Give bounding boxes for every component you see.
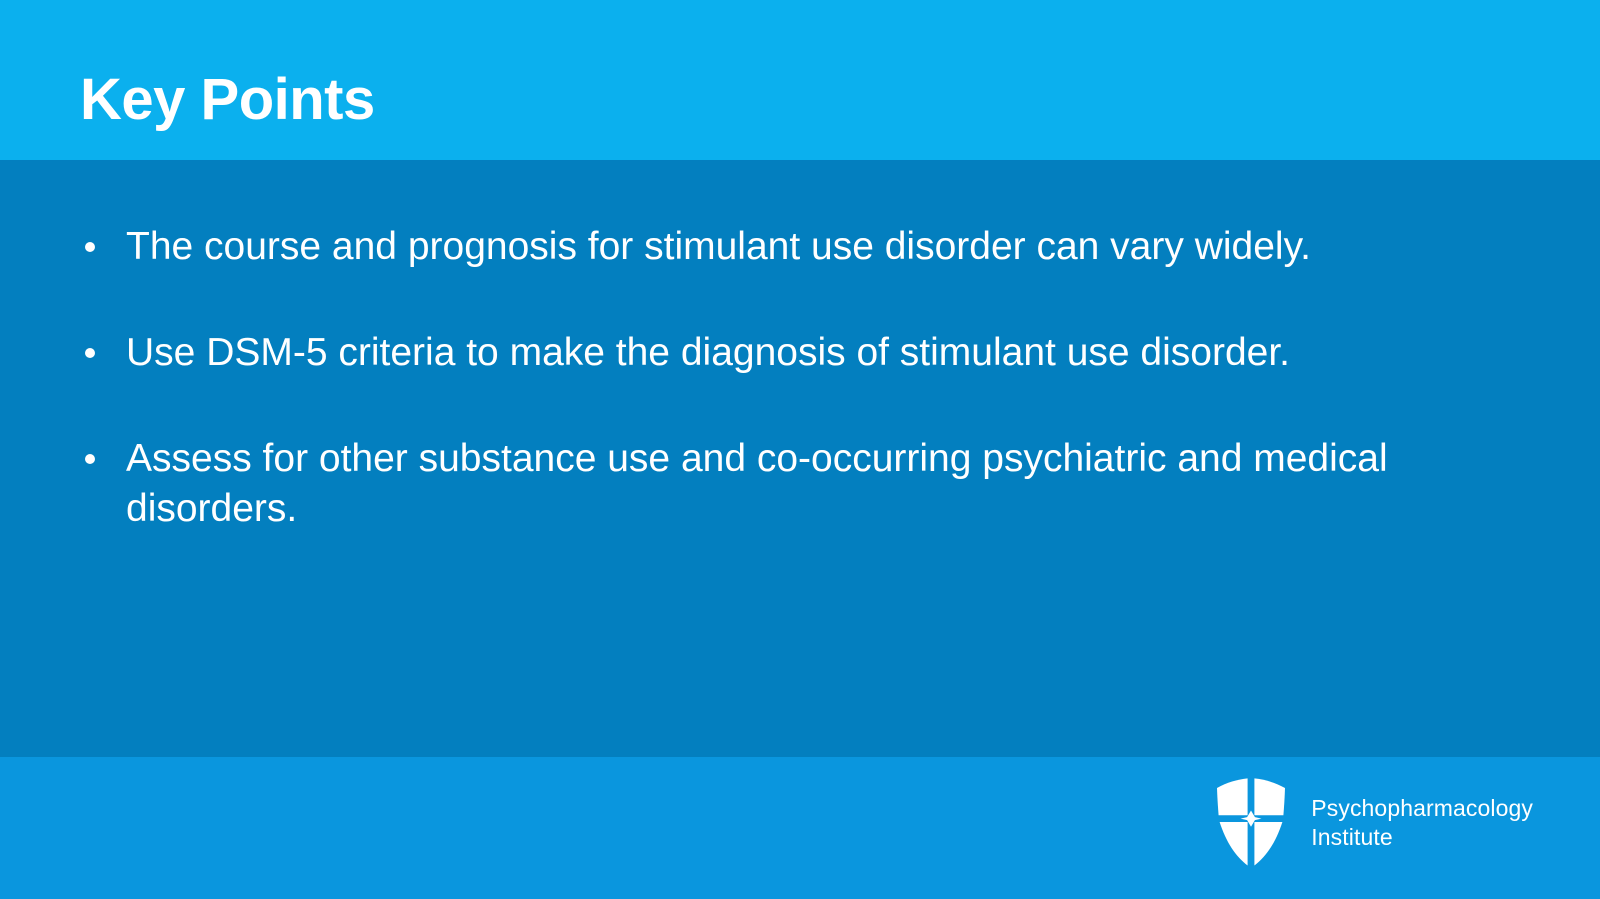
slide: Key Points The course and prognosis for … — [0, 0, 1600, 899]
brand-name-line-1: Psychopharmacology — [1311, 794, 1533, 823]
slide-footer-band: Psychopharmacology Institute — [0, 757, 1600, 899]
list-item: Assess for other substance use and co-oc… — [80, 434, 1500, 534]
slide-header-band: Key Points — [0, 0, 1600, 160]
page-title: Key Points — [80, 66, 375, 134]
list-item: The course and prognosis for stimulant u… — [80, 222, 1500, 272]
key-points-list: The course and prognosis for stimulant u… — [80, 222, 1500, 534]
brand-name-line-2: Institute — [1311, 823, 1533, 852]
shield-logo-icon — [1213, 775, 1289, 871]
list-item-label: Assess for other substance use and co-oc… — [126, 434, 1500, 534]
list-item-label: Use DSM-5 criteria to make the diagnosis… — [126, 328, 1500, 378]
bullet-point-icon — [85, 242, 95, 252]
list-item: Use DSM-5 criteria to make the diagnosis… — [80, 328, 1500, 378]
brand-logo-lockup: Psychopharmacology Institute — [1213, 775, 1533, 871]
bullet-point-icon — [85, 348, 95, 358]
bullet-point-icon — [85, 454, 95, 464]
list-item-label: The course and prognosis for stimulant u… — [126, 222, 1500, 272]
brand-wordmark: Psychopharmacology Institute — [1311, 794, 1533, 852]
slide-body-band: The course and prognosis for stimulant u… — [0, 160, 1600, 757]
